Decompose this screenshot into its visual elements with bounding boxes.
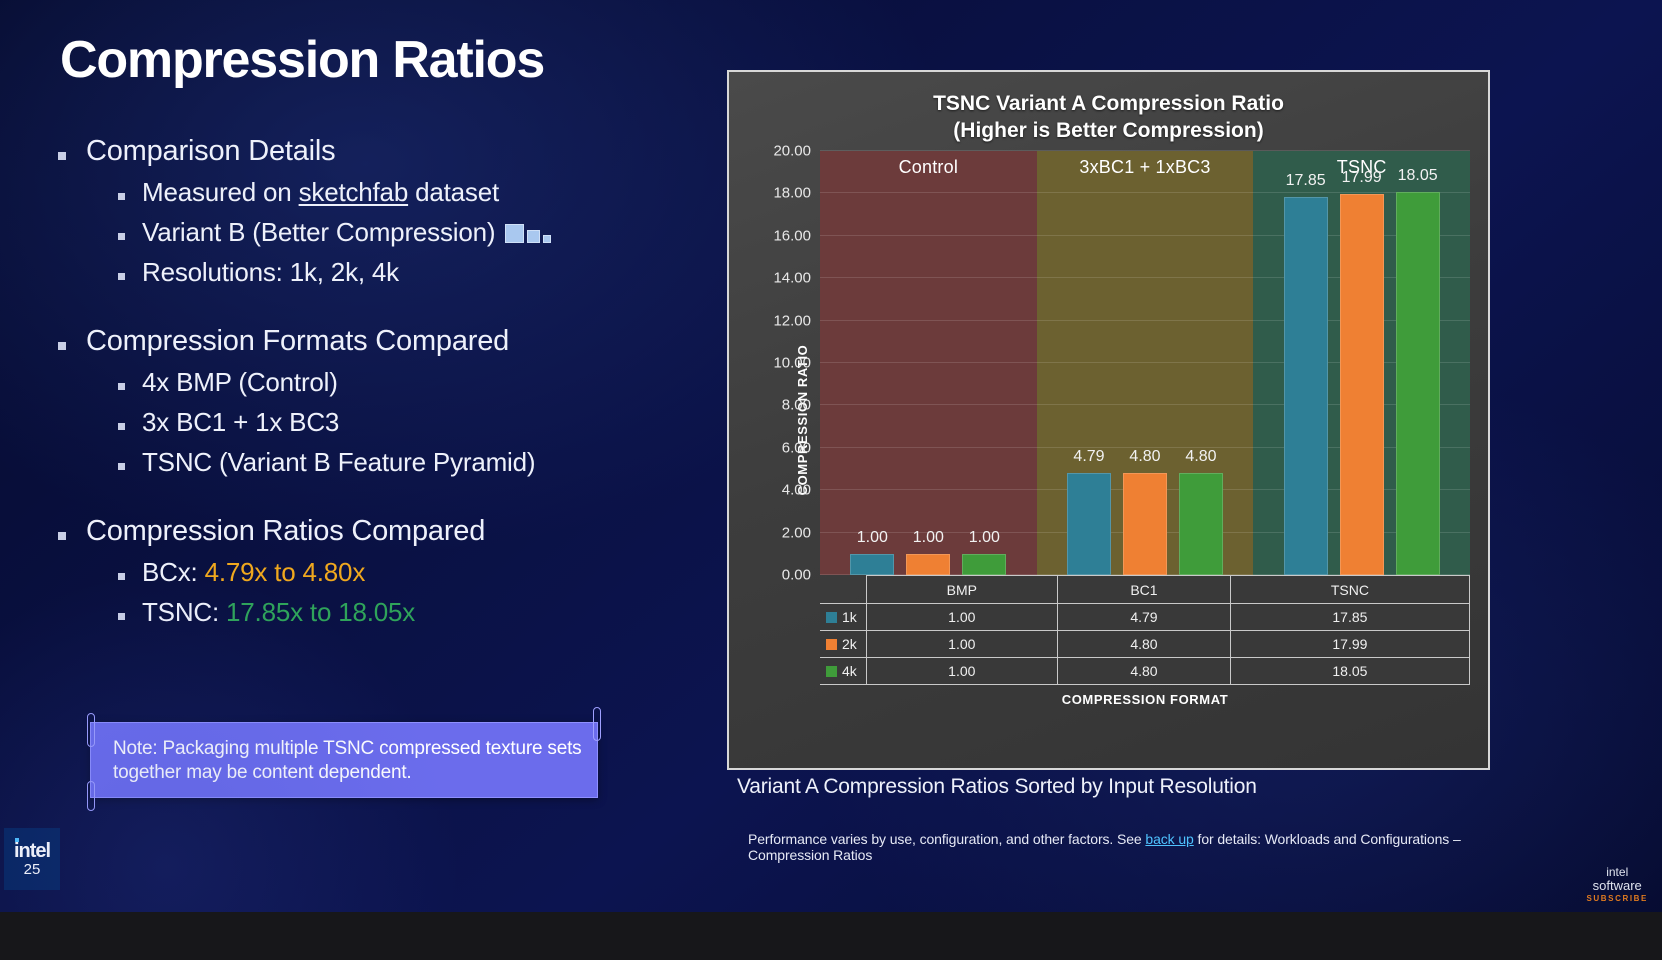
slide-canvas: Compression Ratios Comparison Details Me…	[0, 0, 1662, 912]
chart-y-tick: 0.00	[749, 567, 811, 584]
table-row: 1k1.004.7917.85	[820, 604, 1470, 631]
legend-series-label: 1k	[842, 609, 857, 625]
bcx-ratio-value: 4.79x to 4.80x	[205, 557, 366, 587]
table-column-header: TSNC	[1230, 576, 1469, 604]
chart-band-control: Control	[820, 151, 1037, 575]
chart-bar-value-label: 1.00	[969, 529, 1000, 547]
bullet-square-icon	[118, 193, 125, 200]
chart-bar-bc1-4k: 4.80	[1179, 473, 1223, 575]
chart-panel: TSNC Variant A Compression Ratio (Higher…	[727, 70, 1490, 770]
chart-band-label: Control	[820, 157, 1037, 178]
chart-bar-value-label: 17.99	[1342, 169, 1382, 187]
chart-title: TSNC Variant A Compression Ratio (Higher…	[729, 90, 1488, 144]
bullet-tsnc-ratio: TSNC: 17.85x to 18.05x	[118, 597, 718, 628]
bullet-label: TSNC: 17.85x to 18.05x	[142, 597, 415, 628]
table-cell: 1.00	[866, 658, 1058, 685]
chart-plot-area: Control3xBC1 + 1xBC3TSNC1.001.001.004.79…	[820, 151, 1470, 575]
chart-y-tick: 2.00	[749, 524, 811, 541]
chart-bar-value-label: 1.00	[913, 529, 944, 547]
table-cell: 4.80	[1058, 658, 1231, 685]
bullet-3x-bc1: 3x BC1 + 1x BC3	[118, 407, 718, 438]
back-up-link[interactable]: back up	[1145, 831, 1193, 847]
page-title: Compression Ratios	[60, 30, 544, 90]
callout-curl-icon	[87, 713, 95, 747]
bullet-comparison-details: Comparison Details	[58, 134, 718, 168]
callout-curl-icon	[87, 781, 95, 811]
table-cell: 1.00	[866, 604, 1058, 631]
chart-band-label: 3xBC1 + 1xBC3	[1037, 157, 1254, 178]
note-text: Note: Packaging multiple TSNC compressed…	[113, 737, 583, 785]
legend-series-label: 4k	[842, 663, 857, 679]
chart-bar-bmp-2k: 1.00	[906, 554, 950, 575]
bullet-measured-on-sketchfab: Measured on sketchfab dataset	[118, 177, 718, 208]
bullet-square-icon	[58, 152, 66, 160]
chart-caption: Variant A Compression Ratios Sorted by I…	[737, 775, 1257, 799]
table-row-key: 1k	[820, 604, 866, 631]
table-corner	[820, 576, 866, 604]
bullet-label: Compression Formats Compared	[86, 324, 509, 358]
chart-y-tick: 4.00	[749, 482, 811, 499]
legend-swatch-icon	[826, 639, 837, 650]
chart-y-tick: 14.00	[749, 270, 811, 287]
chart-gridline	[820, 150, 1470, 151]
bullet-compression-ratios-compared: Compression Ratios Compared	[58, 514, 718, 548]
bottom-bar	[0, 912, 1662, 960]
bullet-variant-b: Variant B (Better Compression)	[118, 217, 718, 248]
legend-series-label: 2k	[842, 636, 857, 652]
bullet-square-icon	[58, 342, 66, 350]
chart-y-tick: 6.00	[749, 439, 811, 456]
bullet-label: 4x BMP (Control)	[142, 367, 338, 398]
intel-year: 25	[24, 861, 41, 878]
intel-logo: intel 25	[4, 828, 60, 890]
note-callout: Note: Packaging multiple TSNC compressed…	[90, 722, 598, 798]
bullet-group-spacer	[58, 288, 718, 324]
callout-curl-icon	[593, 707, 601, 741]
table-cell: 17.85	[1230, 604, 1469, 631]
table-row: 4k1.004.8018.05	[820, 658, 1470, 685]
legend-swatch-icon	[826, 666, 837, 677]
table-header-row: BMPBC1TSNC	[820, 576, 1470, 604]
chart-bar-value-label: 4.79	[1073, 448, 1104, 466]
bullet-label: Comparison Details	[86, 134, 335, 168]
table-row: 2k1.004.8017.99	[820, 631, 1470, 658]
table-row-key: 4k	[820, 658, 866, 685]
chart-bar-value-label: 4.80	[1129, 448, 1160, 466]
bullet-label: 3x BC1 + 1x BC3	[142, 407, 339, 438]
chart-bar-bmp-1k: 1.00	[850, 554, 894, 575]
bullet-square-icon	[118, 423, 125, 430]
chart-title-line2: (Higher is Better Compression)	[729, 117, 1488, 144]
intel-software-logo: intel software SUBSCRIBE	[1586, 866, 1648, 904]
intel-software-line2: software	[1586, 879, 1648, 893]
chart-bar-value-label: 17.85	[1286, 172, 1326, 190]
bullet-square-icon	[118, 613, 125, 620]
chart-y-tick: 10.00	[749, 355, 811, 372]
table-column-header: BC1	[1058, 576, 1231, 604]
chart-data-table: BMPBC1TSNC1k1.004.7917.852k1.004.8017.99…	[820, 575, 1470, 685]
chart-bar-value-label: 18.05	[1398, 167, 1438, 185]
table-column-header: BMP	[866, 576, 1058, 604]
chart-bar-value-label: 4.80	[1185, 448, 1216, 466]
bullet-group-spacer	[58, 478, 718, 514]
chart-y-tick: 20.00	[749, 143, 811, 160]
chart-y-tick: 8.00	[749, 397, 811, 414]
sketchfab-underlined: sketchfab	[299, 177, 409, 207]
pyramid-mipmap-icon	[505, 224, 551, 243]
table-cell: 4.80	[1058, 631, 1231, 658]
bullet-label: BCx: 4.79x to 4.80x	[142, 557, 365, 588]
table-cell: 17.99	[1230, 631, 1469, 658]
chart-y-tick: 16.00	[749, 227, 811, 244]
bullet-label: Compression Ratios Compared	[86, 514, 485, 548]
bullet-compression-formats-compared: Compression Formats Compared	[58, 324, 718, 358]
table-cell: 1.00	[866, 631, 1058, 658]
bullet-square-icon	[118, 463, 125, 470]
table-cell: 4.79	[1058, 604, 1231, 631]
bullet-square-icon	[118, 273, 125, 280]
bullet-label: Variant B (Better Compression)	[142, 217, 551, 248]
disclaimer-text: Performance varies by use, configuration…	[748, 831, 1538, 863]
chart-y-tick: 18.00	[749, 185, 811, 202]
bullet-tsnc-feature-pyramid: TSNC (Variant B Feature Pyramid)	[118, 447, 718, 478]
bullet-4x-bmp: 4x BMP (Control)	[118, 367, 718, 398]
table-row-key: 2k	[820, 631, 866, 658]
bullet-label: Resolutions: 1k, 2k, 4k	[142, 257, 399, 288]
chart-x-axis-label: COMPRESSION FORMAT	[820, 692, 1470, 707]
chart-y-tick: 12.00	[749, 312, 811, 329]
legend-swatch-icon	[826, 612, 837, 623]
chart-title-line1: TSNC Variant A Compression Ratio	[729, 90, 1488, 117]
bullet-square-icon	[118, 383, 125, 390]
bullet-label: Measured on sketchfab dataset	[142, 177, 499, 208]
chart-bar-tsnc-1k: 17.85	[1284, 197, 1328, 575]
bullet-square-icon	[118, 233, 125, 240]
disclaimer-pre: Performance varies by use, configuration…	[748, 831, 1145, 847]
chart-bar-bc1-1k: 4.79	[1067, 473, 1111, 575]
bullet-square-icon	[118, 573, 125, 580]
intel-wordmark: intel	[14, 841, 50, 861]
chart-bar-tsnc-2k: 17.99	[1340, 194, 1384, 575]
table-cell: 18.05	[1230, 658, 1469, 685]
chart-bar-value-label: 1.00	[857, 529, 888, 547]
intel-software-subscribe: SUBSCRIBE	[1586, 893, 1648, 904]
bullet-square-icon	[58, 532, 66, 540]
bullet-list: Comparison Details Measured on sketchfab…	[58, 134, 718, 628]
bullet-resolutions: Resolutions: 1k, 2k, 4k	[118, 257, 718, 288]
bullet-bcx-ratio: BCx: 4.79x to 4.80x	[118, 557, 718, 588]
bullet-label: TSNC (Variant B Feature Pyramid)	[142, 447, 535, 478]
tsnc-ratio-value: 17.85x to 18.05x	[226, 597, 415, 627]
chart-bar-tsnc-4k: 18.05	[1396, 192, 1440, 575]
chart-bar-bc1-2k: 4.80	[1123, 473, 1167, 575]
chart-bar-bmp-4k: 1.00	[962, 554, 1006, 575]
